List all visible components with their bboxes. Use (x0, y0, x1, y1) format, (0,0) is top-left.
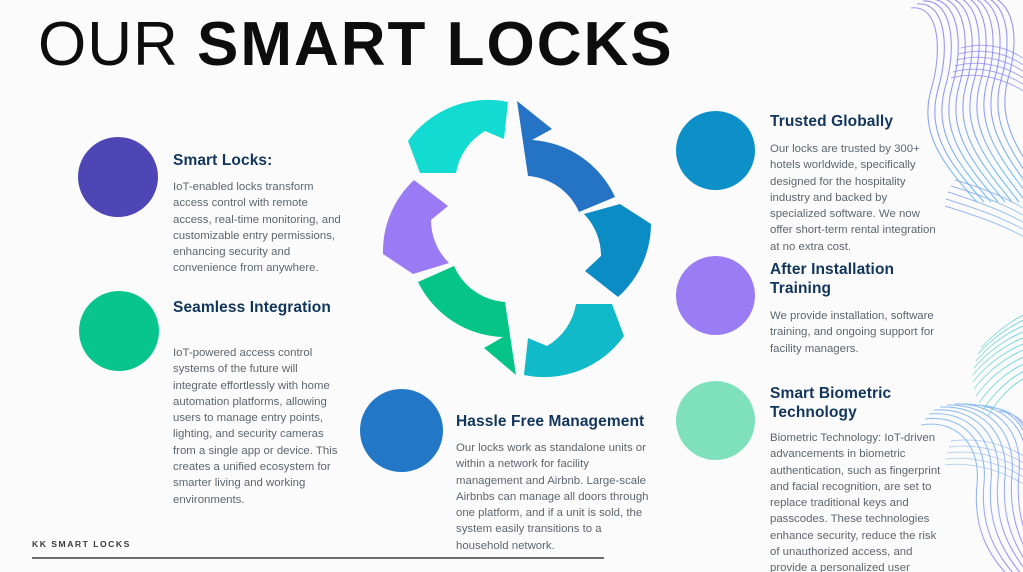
infographic-page: OUR SMART LOCKS Smart Locks: IoT-enabled… (0, 0, 1023, 572)
feature-heading-hassle-free-management: Hassle Free Management (456, 412, 686, 431)
feature-body-smart-locks: IoT-enabled locks transform access contr… (173, 179, 348, 277)
cycle-segment-bottom-left (418, 266, 516, 375)
bullet-circle-smart-biometric-technology (676, 381, 755, 460)
cycle-segment-bottom-right (524, 304, 624, 377)
cycle-segment-top-left (408, 100, 508, 173)
footer-divider (32, 557, 604, 559)
circular-cycle-diagram (372, 96, 656, 380)
bullet-circle-trusted-globally (676, 111, 755, 190)
cycle-segment-top-right (517, 101, 615, 212)
feature-heading-seamless-integration: Seamless Integration (173, 298, 373, 317)
cycle-segment-right (584, 204, 651, 297)
bullet-circle-hassle-free-management (360, 389, 443, 472)
feature-body-after-installation-training: We provide installation, software traini… (770, 308, 946, 357)
feature-heading-smart-locks: Smart Locks: (173, 151, 363, 170)
feature-heading-smart-biometric-technology: Smart Biometric Technology (770, 384, 940, 422)
cycle-segment-left (383, 180, 449, 274)
page-title-bold: SMART LOCKS (197, 10, 674, 79)
feature-body-seamless-integration: IoT-powered access control systems of th… (173, 345, 341, 508)
bullet-circle-after-installation-training (676, 256, 755, 335)
bullet-circle-smart-locks (78, 137, 158, 217)
bullet-circle-seamless-integration (79, 291, 159, 371)
footer-brand-label: KK SMART LOCKS (32, 539, 131, 549)
feature-heading-after-installation-training: After Installation Training (770, 260, 920, 298)
feature-heading-trusted-globally: Trusted Globally (770, 112, 970, 131)
feature-body-smart-biometric-technology: Biometric Technology: IoT-driven advance… (770, 430, 946, 572)
page-title-light: OUR (38, 10, 197, 79)
page-title: OUR SMART LOCKS (38, 8, 674, 82)
feature-body-hassle-free-management: Our locks work as standalone units or wi… (456, 440, 656, 554)
wavy-lines-mid-right-decoration (935, 178, 1023, 418)
feature-body-trusted-globally: Our locks are trusted by 300+ hotels wor… (770, 141, 944, 255)
